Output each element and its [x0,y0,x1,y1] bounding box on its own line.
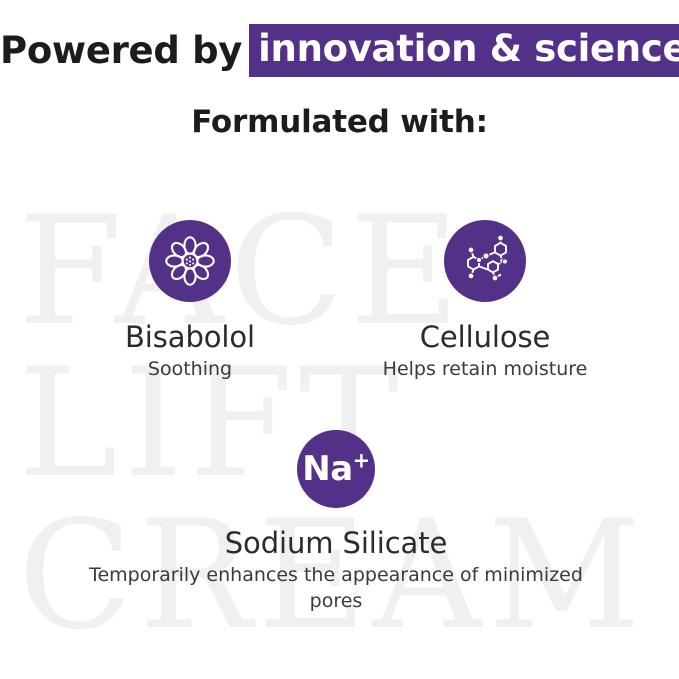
subheading: Formulated with: [0,104,679,140]
ingredient-bisabolol: Bisabolol Soothing [40,220,340,382]
ingredient-name: Cellulose [335,320,635,354]
ingredient-cellulose: Cellulose Helps retain moisture [335,220,635,382]
ingredient-description: Soothing [40,356,340,382]
headline-highlight-text: innovation & science [249,24,679,77]
sodium-ion-label: Na+ [302,452,370,486]
ingredient-name: Bisabolol [40,320,340,354]
sodium-symbol: Na [302,449,352,489]
headline-plain-text: Powered by [0,29,242,72]
ingredient-sodium-silicate: Na+ Sodium Silicate Temporarily enhances… [86,430,586,614]
infographic-content: Powered byinnovation & science Formulate… [0,0,679,679]
ingredient-description: Helps retain moisture [335,356,635,382]
headline: Powered byinnovation & science [0,24,679,77]
sodium-charge: + [353,449,370,473]
sodium-ion-icon: Na+ [297,430,375,508]
ingredient-name: Sodium Silicate [86,526,586,560]
infographic-canvas: FACE LIFT CREAM Powered byinnovation & s… [0,0,679,679]
flower-icon [149,220,231,302]
ingredient-description: Temporarily enhances the appearance of m… [86,562,586,614]
molecule-icon [444,220,526,302]
